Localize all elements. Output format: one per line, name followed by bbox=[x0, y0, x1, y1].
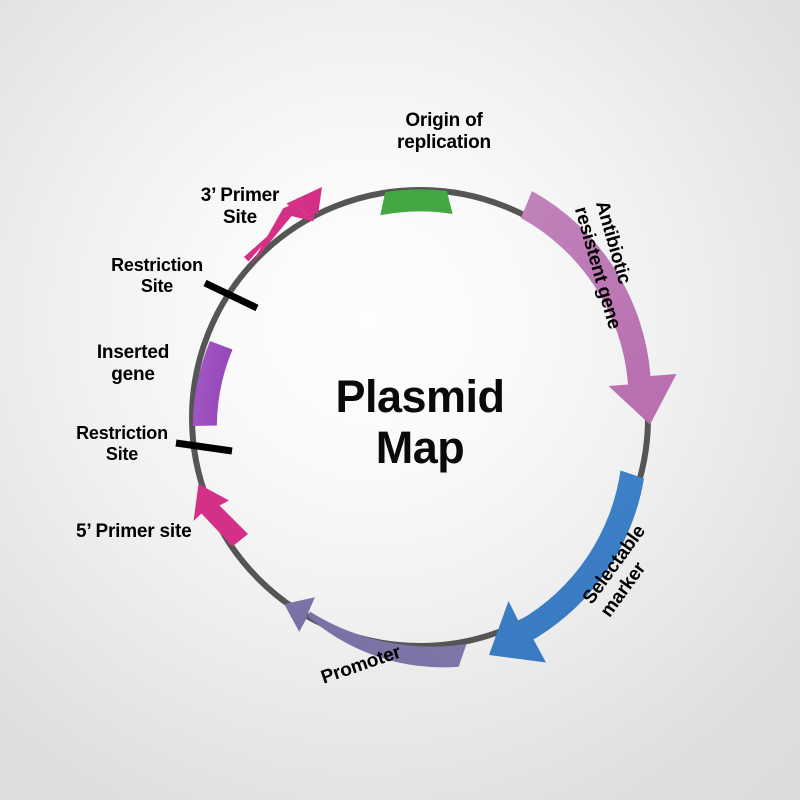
plasmid-map-figure: Plasmid Map Origin of replication Antibi… bbox=[0, 0, 800, 800]
label-restriction-site-upper: Restriction Site bbox=[92, 255, 222, 296]
label-origin-of-replication: Origin of replication bbox=[364, 110, 524, 153]
label-inserted-gene: Inserted gene bbox=[78, 342, 188, 385]
label-primer-site-5: 5’ Primer site bbox=[76, 521, 216, 543]
label-restriction-site-lower: Restriction Site bbox=[57, 423, 187, 464]
feature-origin-of-replication bbox=[380, 189, 453, 215]
page-title: Plasmid Map bbox=[280, 372, 560, 474]
label-primer-site-3: 3’ Primer Site bbox=[180, 185, 300, 228]
